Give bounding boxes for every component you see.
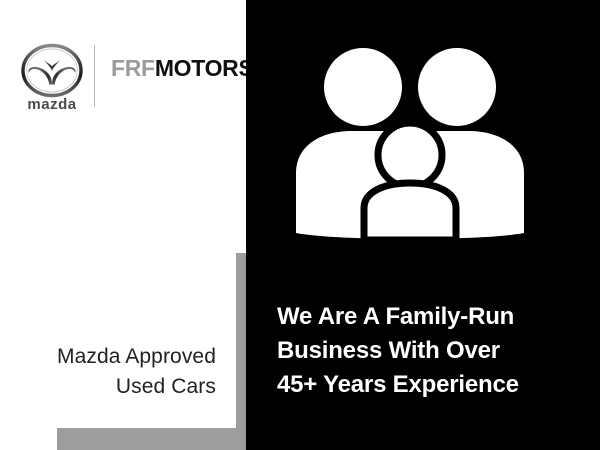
family-group-icon: [292, 45, 528, 240]
headline: We Are A Family-Run Business With Over 4…: [277, 300, 587, 402]
brand-divider: [94, 45, 95, 107]
approved-used-cars-tagline: Mazda Approved Used Cars: [20, 342, 216, 402]
headline-line-2: Business With Over: [277, 334, 587, 368]
headline-line-1: We Are A Family-Run: [277, 300, 587, 334]
tagline-line-2: Used Cars: [116, 375, 216, 398]
dealer-name-suffix: MOTORS: [155, 55, 254, 81]
right-panel: We Are A Family-Run Business With Over 4…: [246, 0, 600, 450]
mazda-wordmark: mazda: [27, 96, 76, 113]
mazda-logo-icon: mazda: [14, 42, 90, 116]
dealer-name: FRFMOTORS: [111, 57, 254, 80]
gray-frame-vertical: [236, 253, 246, 450]
promo-banner: mazda FRFMOTORS Mazda Approved Used Cars: [0, 0, 600, 450]
headline-line-3: 45+ Years Experience: [277, 368, 587, 402]
tagline-line-1: Mazda Approved: [57, 345, 216, 368]
gray-frame-horizontal: [57, 428, 246, 450]
left-panel: mazda FRFMOTORS Mazda Approved Used Cars: [0, 0, 246, 450]
dealer-name-prefix: FRF: [111, 55, 155, 81]
brand-lockup: mazda FRFMOTORS: [14, 42, 234, 116]
